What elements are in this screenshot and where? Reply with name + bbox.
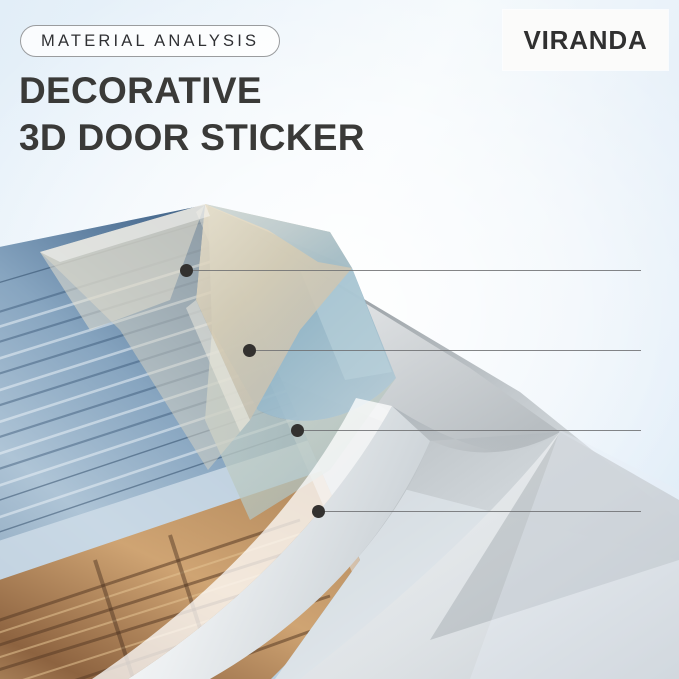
callout-leader-line-2 [254,350,641,351]
callout-dot-2 [243,344,256,357]
material-analysis-badge: MATERIAL ANALYSIS [20,25,280,57]
callout-leader-line-1 [191,270,641,271]
brand-name: VIRANDA [523,25,647,56]
callout-dot-1 [180,264,193,277]
callout-leader-line-4 [323,511,641,512]
page-title: DECORATIVE 3D DOOR STICKER [19,68,489,162]
brand-logo: VIRANDA [503,10,668,70]
title-line-2: 3D DOOR STICKER [19,115,489,162]
badge-label: MATERIAL ANALYSIS [41,33,259,50]
callout-dot-4 [312,505,325,518]
callout-dot-3 [291,424,304,437]
callout-leader-line-3 [302,430,641,431]
title-line-1: DECORATIVE [19,68,489,115]
poster-canvas: MATERIAL ANALYSIS DECORATIVE 3D DOOR STI… [0,0,679,679]
